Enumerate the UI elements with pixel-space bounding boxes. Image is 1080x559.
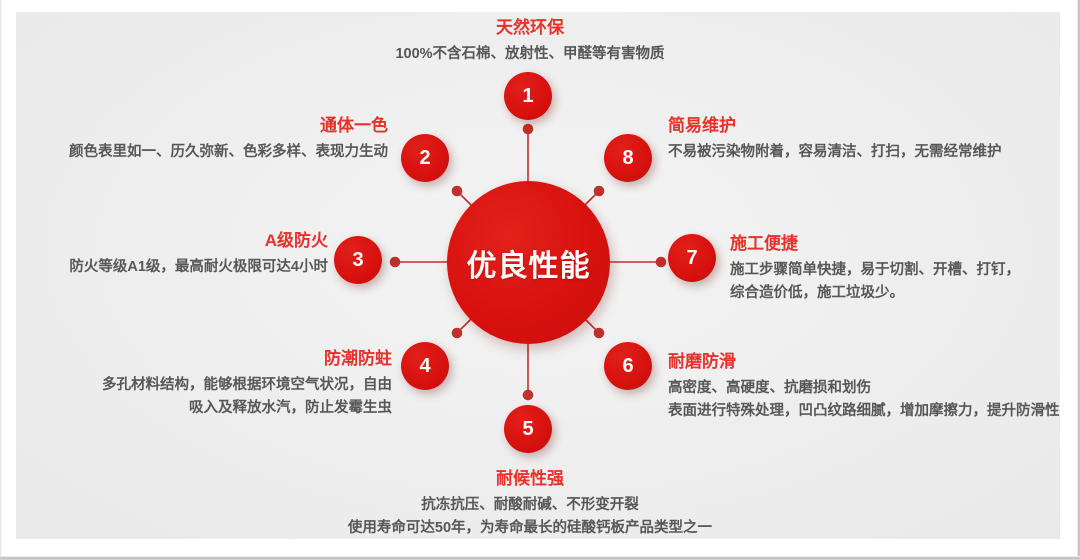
node-badge-5[interactable]: 5 [504, 405, 552, 453]
node-badge-8[interactable]: 8 [604, 134, 652, 182]
node-text-6: 耐磨防滑 高密度、高硬度、抗磨损和划伤 表面进行特殊处理，凹凸纹路细腻，增加摩擦… [668, 350, 1068, 423]
node-line-1-1: 100%不含石棉、放射性、甲醛等有害物质 [290, 43, 770, 66]
node-text-7: 施工便捷 施工步骤简单快捷，易于切割、开槽、打钉， 综合造价低，施工垃圾少。 [730, 232, 1070, 305]
node-line-6-1: 高密度、高硬度、抗磨损和划伤 [668, 377, 1068, 400]
node-badge-4[interactable]: 4 [401, 342, 449, 390]
infographic-canvas: 优良性能 1 2 3 4 5 6 7 8 天然环保 100%不含石棉、放射性、甲… [0, 0, 1080, 559]
node-line-2-1: 颜色表里如一、历久弥新、色彩多样、表现力生动 [10, 141, 388, 164]
node-heading-6: 耐磨防滑 [668, 350, 1068, 374]
node-line-5-1: 抗冻抗压、耐酸耐碱、不形变开裂 [255, 494, 805, 517]
node-text-8: 简易维护 不易被污染物附着，容易清洁、打扫，无需经常维护 [668, 114, 1068, 164]
node-text-2: 通体一色 颜色表里如一、历久弥新、色彩多样、表现力生动 [10, 114, 388, 164]
node-line-4-2: 吸入及释放水汽，防止发霉生虫 [10, 397, 392, 420]
center-hub-label: 优良性能 [467, 241, 591, 285]
node-heading-5: 耐候性强 [255, 467, 805, 491]
node-heading-3: A级防火 [10, 229, 328, 253]
node-badge-1[interactable]: 1 [504, 72, 552, 120]
frame-edge-left [0, 0, 2, 559]
node-badge-2[interactable]: 2 [401, 134, 449, 182]
node-line-7-1: 施工步骤简单快捷，易于切割、开槽、打钉， [730, 259, 1070, 282]
node-heading-1: 天然环保 [290, 16, 770, 40]
node-line-8-1: 不易被污染物附着，容易清洁、打扫，无需经常维护 [668, 141, 1068, 164]
node-badge-6[interactable]: 6 [604, 342, 652, 390]
node-heading-2: 通体一色 [10, 114, 388, 138]
node-text-3: A级防火 防火等级A1级，最高耐火极限可达4小时 [10, 229, 328, 279]
node-badge-3[interactable]: 3 [334, 236, 382, 284]
node-line-6-2: 表面进行特殊处理，凹凸纹路细腻，增加摩擦力，提升防滑性 [668, 400, 1068, 423]
node-text-5: 耐候性强 抗冻抗压、耐酸耐碱、不形变开裂 使用寿命可达50年，为寿命最长的硅酸钙… [255, 467, 805, 540]
node-heading-4: 防潮防蛀 [10, 347, 392, 371]
node-badge-7[interactable]: 7 [668, 234, 716, 282]
node-text-1: 天然环保 100%不含石棉、放射性、甲醛等有害物质 [290, 16, 770, 66]
node-text-4: 防潮防蛀 多孔材料结构，能够根据环境空气状况，自由 吸入及释放水汽，防止发霉生虫 [10, 347, 392, 420]
center-hub[interactable]: 优良性能 [447, 181, 610, 344]
node-line-7-2: 综合造价低，施工垃圾少。 [730, 282, 1070, 305]
node-line-3-1: 防火等级A1级，最高耐火极限可达4小时 [10, 256, 328, 279]
node-heading-7: 施工便捷 [730, 232, 1070, 256]
node-heading-8: 简易维护 [668, 114, 1068, 138]
node-line-4-1: 多孔材料结构，能够根据环境空气状况，自由 [10, 374, 392, 397]
node-line-5-2: 使用寿命可达50年，为寿命最长的硅酸钙板产品类型之一 [255, 517, 805, 540]
